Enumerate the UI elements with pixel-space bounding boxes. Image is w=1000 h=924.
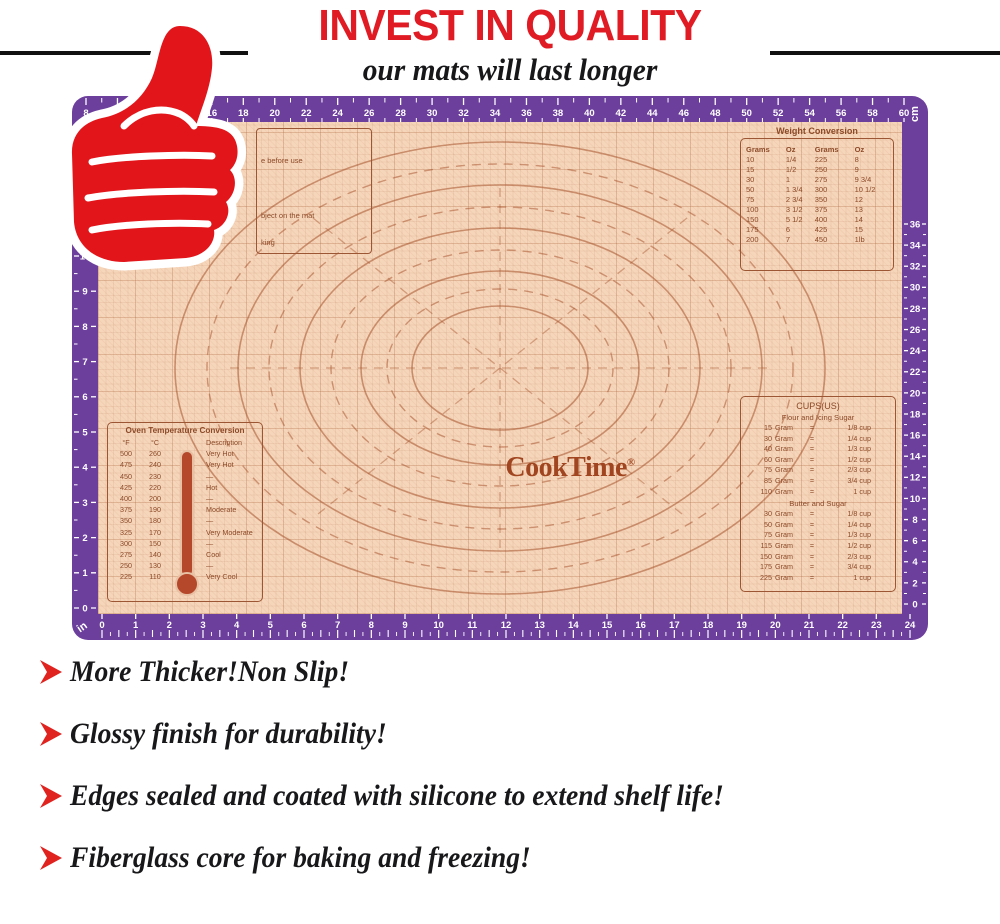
arrow-right-icon bbox=[36, 843, 70, 873]
temp-description: Hot bbox=[206, 482, 258, 493]
col-header-fahrenheit: °F bbox=[112, 437, 140, 448]
page-title: INVEST IN QUALITY bbox=[259, 2, 761, 50]
table-cell: 75 bbox=[745, 194, 785, 204]
cups-grams-value: 225 bbox=[745, 573, 775, 584]
svg-text:34: 34 bbox=[490, 108, 501, 119]
table-row: 50Gram=1/4 cup bbox=[745, 520, 891, 531]
table-cell: 7 bbox=[785, 234, 814, 244]
svg-text:46: 46 bbox=[678, 108, 689, 119]
table-cell: 8 bbox=[854, 154, 889, 164]
oven-temperature-title: Oven Temperature Conversion bbox=[112, 426, 258, 435]
table-cell: 15 bbox=[745, 164, 785, 174]
cups-cup-value: 1 cup bbox=[819, 573, 891, 584]
svg-text:16: 16 bbox=[635, 620, 646, 631]
list-item: Glossy finish for durability! bbox=[36, 717, 414, 751]
cups-grams-unit: Gram bbox=[775, 465, 805, 476]
cups-equals-sign: = bbox=[805, 552, 819, 563]
cups-grams-value: 115 bbox=[745, 541, 775, 552]
svg-text:1: 1 bbox=[133, 620, 139, 631]
cups-equals-sign: = bbox=[805, 476, 819, 487]
cups-grams-unit: Gram bbox=[775, 423, 805, 434]
temp-description: Very Hot bbox=[206, 448, 258, 459]
table-cell: 5 1/2 bbox=[785, 214, 814, 224]
svg-text:20: 20 bbox=[770, 620, 781, 631]
cups-equals-sign: = bbox=[805, 509, 819, 520]
svg-text:32: 32 bbox=[458, 108, 469, 119]
cups-equals-sign: = bbox=[805, 455, 819, 466]
svg-text:20: 20 bbox=[910, 388, 921, 399]
table-cell: 300 bbox=[814, 184, 854, 194]
cups-cup-value: 1/4 cup bbox=[819, 434, 891, 445]
cups-equals-sign: = bbox=[805, 465, 819, 476]
svg-text:13: 13 bbox=[534, 620, 545, 631]
temp-description: Cool bbox=[206, 549, 258, 560]
table-row: 225Gram=1 cup bbox=[745, 573, 891, 584]
svg-text:14: 14 bbox=[568, 620, 579, 631]
svg-text:17: 17 bbox=[669, 620, 680, 631]
cups-grams-unit: Gram bbox=[775, 444, 805, 455]
svg-text:30: 30 bbox=[427, 108, 438, 119]
cups-grams-unit: Gram bbox=[775, 530, 805, 541]
svg-text:2: 2 bbox=[912, 578, 917, 589]
svg-text:22: 22 bbox=[837, 620, 848, 631]
weight-conversion-table: Grams Oz Grams Oz 101/42258151/225093012… bbox=[745, 144, 889, 244]
svg-text:18: 18 bbox=[910, 409, 921, 420]
cups-equals-sign: = bbox=[805, 444, 819, 455]
temp-description: — bbox=[206, 515, 258, 526]
table-row: 75Gram=1/3 cup bbox=[745, 530, 891, 541]
svg-text:5: 5 bbox=[268, 620, 274, 631]
table-cell: 100 bbox=[745, 204, 785, 214]
cups-cup-value: 3/4 cup bbox=[819, 562, 891, 573]
temp-fahrenheit: 300 bbox=[112, 538, 140, 549]
care-line-3: king bbox=[261, 238, 367, 247]
svg-text:24: 24 bbox=[910, 346, 921, 357]
cups-grams-unit: Gram bbox=[775, 541, 805, 552]
temp-celsius: 180 bbox=[140, 515, 170, 526]
mat-oven-temperature-box: Oven Temperature Conversion °F °C Descri… bbox=[107, 422, 263, 602]
cups-cup-value: 1/2 cup bbox=[819, 541, 891, 552]
svg-text:0: 0 bbox=[912, 599, 917, 610]
svg-text:4: 4 bbox=[234, 620, 240, 631]
svg-text:8: 8 bbox=[82, 322, 87, 333]
cups-section-subtitle: Flour and Icing Sugar bbox=[745, 413, 891, 422]
table-cell: 6 bbox=[785, 224, 814, 234]
table-row: 20074501lb bbox=[745, 234, 889, 244]
temp-fahrenheit: 225 bbox=[112, 571, 140, 582]
temp-celsius: 110 bbox=[140, 571, 170, 582]
cups-section-subtitle: Butter and Sugar bbox=[745, 499, 891, 508]
feature-bullet-list: More Thicker!Non Slip! Glossy finish for… bbox=[0, 655, 1000, 915]
svg-text:19: 19 bbox=[736, 620, 747, 631]
table-row: 40Gram=1/3 cup bbox=[745, 444, 891, 455]
cups-grams-unit: Gram bbox=[775, 476, 805, 487]
temp-celsius: 140 bbox=[140, 549, 170, 560]
svg-text:15: 15 bbox=[602, 620, 613, 631]
svg-text:6: 6 bbox=[912, 536, 917, 547]
col-header-oz-1: Oz bbox=[785, 144, 814, 154]
temp-description: — bbox=[206, 560, 258, 571]
cups-equals-sign: = bbox=[805, 434, 819, 445]
svg-text:12: 12 bbox=[910, 473, 921, 484]
svg-text:28: 28 bbox=[395, 108, 406, 119]
svg-text:5: 5 bbox=[82, 427, 88, 438]
mat-weight-conversion-box: Weight Conversion Grams Oz Grams Oz 101/… bbox=[740, 138, 894, 271]
table-header-row: Grams Oz Grams Oz bbox=[745, 144, 889, 154]
temp-description: — bbox=[206, 493, 258, 504]
svg-text:36: 36 bbox=[910, 219, 921, 230]
svg-text:6: 6 bbox=[82, 392, 87, 403]
oven-temperature-table: °F °C Description 500260Very Hot475240Ve… bbox=[112, 437, 258, 582]
table-cell: 9 3/4 bbox=[854, 174, 889, 184]
cups-equals-sign: = bbox=[805, 487, 819, 498]
temp-description: Very Cool bbox=[206, 571, 258, 582]
svg-text:22: 22 bbox=[301, 108, 312, 119]
svg-text:26: 26 bbox=[910, 325, 921, 336]
table-row: 60Gram=1/2 cup bbox=[745, 455, 891, 466]
col-header-description: Description bbox=[206, 437, 258, 448]
table-row: 501 3/430010 1/2 bbox=[745, 184, 889, 194]
cups-grams-value: 15 bbox=[745, 423, 775, 434]
cups-grams-value: 30 bbox=[745, 509, 775, 520]
cups-cup-value: 1/2 cup bbox=[819, 455, 891, 466]
table-row: 75Gram=2/3 cup bbox=[745, 465, 891, 476]
temp-fahrenheit: 350 bbox=[112, 515, 140, 526]
temp-description: Very Moderate bbox=[206, 527, 258, 538]
table-row: 115Gram=1/2 cup bbox=[745, 541, 891, 552]
arrow-right-icon bbox=[36, 781, 70, 811]
table-cell: 10 1/2 bbox=[854, 184, 889, 194]
cups-grams-unit: Gram bbox=[775, 487, 805, 498]
mat-cups-us-box: CUPS(US) Flour and Icing Sugar15Gram=1/8… bbox=[740, 396, 896, 592]
header-rule-right bbox=[770, 51, 1000, 55]
table-cell: 1/4 bbox=[785, 154, 814, 164]
col-header-oz-2: Oz bbox=[854, 144, 889, 154]
table-row: 1505 1/240014 bbox=[745, 214, 889, 224]
table-row: 1003 1/237513 bbox=[745, 204, 889, 214]
cups-us-title: CUPS(US) bbox=[745, 401, 891, 411]
svg-text:26: 26 bbox=[364, 108, 375, 119]
svg-text:4: 4 bbox=[912, 557, 918, 568]
page-subtitle: our mats will last longer bbox=[254, 52, 767, 88]
temp-celsius: 170 bbox=[140, 527, 170, 538]
cups-grams-value: 175 bbox=[745, 562, 775, 573]
cups-grams-value: 75 bbox=[745, 465, 775, 476]
table-cell: 1 bbox=[785, 174, 814, 184]
temp-fahrenheit: 325 bbox=[112, 527, 140, 538]
list-item: More Thicker!Non Slip! bbox=[36, 655, 373, 689]
table-cell: 15 bbox=[854, 224, 889, 234]
thumbs-up-icon bbox=[62, 14, 252, 279]
svg-text:52: 52 bbox=[773, 108, 784, 119]
svg-text:54: 54 bbox=[804, 108, 815, 119]
cups-cup-value: 2/3 cup bbox=[819, 552, 891, 563]
svg-text:9: 9 bbox=[402, 620, 407, 631]
svg-text:38: 38 bbox=[553, 108, 564, 119]
table-cell: 275 bbox=[814, 174, 854, 184]
cups-equals-sign: = bbox=[805, 423, 819, 434]
registered-trademark-icon: ® bbox=[627, 457, 635, 469]
list-item: Edges sealed and coated with silicone to… bbox=[36, 779, 781, 813]
svg-text:8: 8 bbox=[369, 620, 374, 631]
temp-fahrenheit: 375 bbox=[112, 504, 140, 515]
cups-grams-unit: Gram bbox=[775, 562, 805, 573]
cups-equals-sign: = bbox=[805, 541, 819, 552]
svg-text:30: 30 bbox=[910, 283, 921, 294]
list-item: Fiberglass core for baking and freezing! bbox=[36, 841, 571, 875]
temp-description: — bbox=[206, 471, 258, 482]
table-row: 151/22509 bbox=[745, 164, 889, 174]
temp-fahrenheit: 475 bbox=[112, 459, 140, 470]
table-cell: 450 bbox=[814, 234, 854, 244]
table-cell: 1/2 bbox=[785, 164, 814, 174]
svg-text:3: 3 bbox=[82, 498, 87, 509]
cups-grams-value: 150 bbox=[745, 552, 775, 563]
cups-grams-value: 30 bbox=[745, 434, 775, 445]
temp-celsius: 130 bbox=[140, 560, 170, 571]
svg-text:28: 28 bbox=[910, 304, 921, 315]
table-cell: 150 bbox=[745, 214, 785, 224]
svg-text:32: 32 bbox=[910, 262, 921, 273]
cups-cup-value: 3/4 cup bbox=[819, 476, 891, 487]
bullet-text: Glossy finish for durability! bbox=[70, 717, 387, 751]
care-line-2: bject on the mat bbox=[261, 211, 367, 220]
temp-fahrenheit: 500 bbox=[112, 448, 140, 459]
table-cell: 12 bbox=[854, 194, 889, 204]
cups-cup-value: 1/4 cup bbox=[819, 520, 891, 531]
cups-grams-value: 75 bbox=[745, 530, 775, 541]
table-row: 85Gram=3/4 cup bbox=[745, 476, 891, 487]
cups-grams-value: 50 bbox=[745, 520, 775, 531]
svg-text:58: 58 bbox=[867, 108, 878, 119]
table-cell: 225 bbox=[814, 154, 854, 164]
bullet-text: More Thicker!Non Slip! bbox=[70, 655, 349, 689]
cups-grams-unit: Gram bbox=[775, 552, 805, 563]
svg-text:12: 12 bbox=[501, 620, 512, 631]
table-row: 15Gram=1/8 cup bbox=[745, 423, 891, 434]
svg-text:7: 7 bbox=[335, 620, 340, 631]
svg-text:0: 0 bbox=[99, 620, 104, 631]
cups-grams-unit: Gram bbox=[775, 434, 805, 445]
cups-cup-value: 1 cup bbox=[819, 487, 891, 498]
table-cell: 14 bbox=[854, 214, 889, 224]
table-row: 175Gram=3/4 cup bbox=[745, 562, 891, 573]
svg-text:21: 21 bbox=[804, 620, 815, 631]
temp-fahrenheit: 250 bbox=[112, 560, 140, 571]
svg-text:48: 48 bbox=[710, 108, 721, 119]
svg-text:20: 20 bbox=[269, 108, 280, 119]
cups-equals-sign: = bbox=[805, 573, 819, 584]
ruler-bottom-inches: 0123456789101112131415161718192021222324… bbox=[72, 614, 928, 640]
table-row: 150Gram=2/3 cup bbox=[745, 552, 891, 563]
table-row: 101/42258 bbox=[745, 154, 889, 164]
temp-celsius: 240 bbox=[140, 459, 170, 470]
svg-text:2: 2 bbox=[167, 620, 172, 631]
cups-cup-value: 2/3 cup bbox=[819, 465, 891, 476]
svg-text:3: 3 bbox=[200, 620, 205, 631]
table-row: 30Gram=1/8 cup bbox=[745, 509, 891, 520]
cups-cup-value: 1/3 cup bbox=[819, 444, 891, 455]
temp-celsius: 190 bbox=[140, 504, 170, 515]
weight-conversion-title: Weight Conversion bbox=[741, 126, 893, 136]
table-cell: 425 bbox=[814, 224, 854, 234]
table-row: 752 3/435012 bbox=[745, 194, 889, 204]
cups-grams-value: 85 bbox=[745, 476, 775, 487]
table-cell: 175 bbox=[745, 224, 785, 234]
table-cell: 10 bbox=[745, 154, 785, 164]
table-row: 3012759 3/4 bbox=[745, 174, 889, 184]
svg-text:1: 1 bbox=[82, 568, 88, 579]
svg-text:9: 9 bbox=[82, 287, 87, 298]
cups-equals-sign: = bbox=[805, 562, 819, 573]
svg-text:50: 50 bbox=[741, 108, 752, 119]
cups-grams-unit: Gram bbox=[775, 509, 805, 520]
table-cell: 2 3/4 bbox=[785, 194, 814, 204]
cups-cup-value: 1/8 cup bbox=[819, 509, 891, 520]
bullet-text: Edges sealed and coated with silicone to… bbox=[70, 779, 724, 813]
cups-grams-value: 40 bbox=[745, 444, 775, 455]
svg-text:42: 42 bbox=[616, 108, 627, 119]
svg-text:2: 2 bbox=[82, 533, 87, 544]
svg-text:11: 11 bbox=[467, 620, 478, 631]
temp-fahrenheit: 425 bbox=[112, 482, 140, 493]
svg-text:0: 0 bbox=[82, 603, 87, 614]
svg-text:8: 8 bbox=[912, 515, 917, 526]
temp-celsius: 200 bbox=[140, 493, 170, 504]
col-header-grams-2: Grams bbox=[814, 144, 854, 154]
table-cell: 250 bbox=[814, 164, 854, 174]
col-header-grams-1: Grams bbox=[745, 144, 785, 154]
temp-description: — bbox=[206, 538, 258, 549]
svg-text:36: 36 bbox=[521, 108, 532, 119]
table-cell: 350 bbox=[814, 194, 854, 204]
svg-text:18: 18 bbox=[703, 620, 714, 631]
svg-text:24: 24 bbox=[332, 108, 343, 119]
svg-text:40: 40 bbox=[584, 108, 595, 119]
cups-grams-value: 60 bbox=[745, 455, 775, 466]
table-cell: 1lb bbox=[854, 234, 889, 244]
table-cell: 400 bbox=[814, 214, 854, 224]
table-cell: 375 bbox=[814, 204, 854, 214]
cups-grams-unit: Gram bbox=[775, 573, 805, 584]
table-row: 30Gram=1/4 cup bbox=[745, 434, 891, 445]
temp-description: Very Hot bbox=[206, 459, 258, 470]
ruler-right-cm: 024681012141618202224262830323436 bbox=[902, 96, 928, 640]
brand-logo-text: CookTime bbox=[505, 452, 627, 483]
table-row: 110Gram=1 cup bbox=[745, 487, 891, 498]
table-cell: 9 bbox=[854, 164, 889, 174]
temp-description: Moderate bbox=[206, 504, 258, 515]
cups-grams-unit: Gram bbox=[775, 455, 805, 466]
temp-fahrenheit: 275 bbox=[112, 549, 140, 560]
temp-celsius: 150 bbox=[140, 538, 170, 549]
table-row: 175642515 bbox=[745, 224, 889, 234]
table-cell: 3 1/2 bbox=[785, 204, 814, 214]
cups-equals-sign: = bbox=[805, 520, 819, 531]
temp-celsius: 230 bbox=[140, 471, 170, 482]
cups-cup-value: 1/3 cup bbox=[819, 530, 891, 541]
table-cell: 1 3/4 bbox=[785, 184, 814, 194]
arrow-right-icon bbox=[36, 719, 70, 749]
svg-text:4: 4 bbox=[82, 463, 88, 474]
svg-text:7: 7 bbox=[82, 357, 87, 368]
svg-text:16: 16 bbox=[910, 431, 921, 442]
brand-logo: CookTime® bbox=[470, 452, 670, 484]
mat-care-instructions-box: e before use bject on the mat king bbox=[256, 128, 372, 254]
svg-text:22: 22 bbox=[910, 367, 921, 378]
table-cell: 30 bbox=[745, 174, 785, 184]
table-cell: 50 bbox=[745, 184, 785, 194]
thermometer-icon bbox=[174, 447, 200, 603]
cups-grams-value: 110 bbox=[745, 487, 775, 498]
table-cell: 200 bbox=[745, 234, 785, 244]
cups-equals-sign: = bbox=[805, 530, 819, 541]
cups-cup-value: 1/8 cup bbox=[819, 423, 891, 434]
svg-text:10: 10 bbox=[910, 494, 921, 505]
table-cell: 13 bbox=[854, 204, 889, 214]
svg-text:10: 10 bbox=[433, 620, 444, 631]
temp-fahrenheit: 400 bbox=[112, 493, 140, 504]
temp-celsius: 260 bbox=[140, 448, 170, 459]
svg-text:34: 34 bbox=[910, 241, 921, 252]
care-line-1: e before use bbox=[261, 156, 367, 165]
arrow-right-icon bbox=[36, 657, 70, 687]
temp-celsius: 220 bbox=[140, 482, 170, 493]
svg-text:44: 44 bbox=[647, 108, 658, 119]
svg-text:6: 6 bbox=[301, 620, 306, 631]
col-header-celsius: °C bbox=[140, 437, 170, 448]
cups-grams-unit: Gram bbox=[775, 520, 805, 531]
temp-fahrenheit: 450 bbox=[112, 471, 140, 482]
svg-text:14: 14 bbox=[910, 452, 921, 463]
svg-text:56: 56 bbox=[836, 108, 847, 119]
bullet-text: Fiberglass core for baking and freezing! bbox=[70, 841, 531, 875]
svg-text:23: 23 bbox=[871, 620, 882, 631]
